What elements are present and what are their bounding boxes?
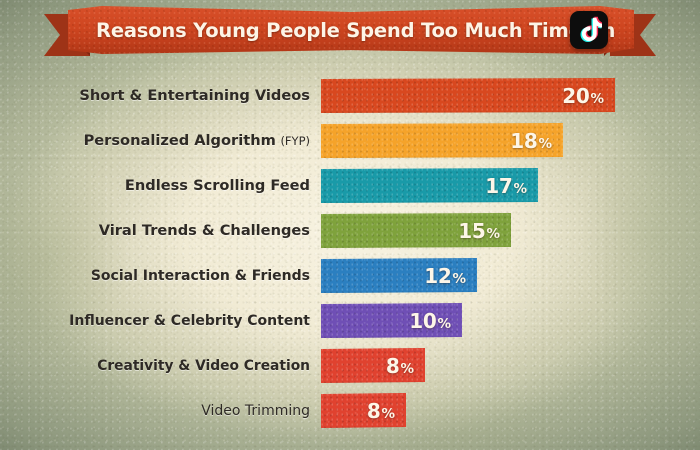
bar-label-strong: Personalized Algorithm (84, 132, 276, 149)
bar-value-number: 15 (458, 219, 485, 243)
bar-value-percent: % (400, 361, 414, 377)
tiktok-logo-icon (570, 11, 608, 49)
bar-segment: 12% (321, 258, 477, 293)
bar-label-rest: Scrolling Feed (188, 177, 310, 194)
bar-label: Creativity & Video Creation (0, 358, 321, 374)
bar-label-strong: Influencer (69, 313, 149, 329)
infographic-canvas: Reasons Young People Spend Too Much Time… (0, 0, 700, 450)
header-ribbon: Reasons Young People Spend Too Much Time… (0, 0, 700, 70)
bar-label-strong: Endless (125, 177, 188, 194)
bar-value-percent: % (452, 271, 466, 287)
bar-value: 8% (367, 399, 406, 423)
bar-value: 15% (458, 219, 511, 243)
bar-segment: 15% (321, 213, 511, 248)
table-row: Social Interaction & Friends 12% (0, 258, 700, 293)
bar-value-number: 12 (424, 264, 451, 288)
bar-label: Video Trimming (0, 403, 321, 419)
table-row: Viral Trends & Challenges 15% (0, 213, 700, 248)
bar-value-percent: % (513, 181, 527, 197)
bar-chart: Short & Entertaining Videos 20% Personal… (0, 70, 700, 435)
bar-value-number: 18 (510, 129, 537, 153)
table-row: Influencer & Celebrity Content 10% (0, 303, 700, 338)
table-row: Endless Scrolling Feed 17% (0, 168, 700, 203)
table-row: Video Trimming 8% (0, 393, 700, 428)
bar-value: 12% (424, 264, 477, 288)
bar-value-percent: % (538, 136, 552, 152)
table-row: Creativity & Video Creation 8% (0, 348, 700, 383)
bar-label-rest: & Challenges (197, 222, 310, 239)
bar-segment: 10% (321, 303, 462, 338)
bar-value-number: 8 (367, 399, 381, 423)
bar-segment: 8% (321, 348, 425, 383)
bar-value-number: 8 (386, 354, 400, 378)
bar-label-note: (FYP) (280, 134, 310, 148)
bar-label-strong: Creativity (97, 358, 173, 374)
bar-label: Short & Entertaining Videos (0, 87, 321, 104)
bar-label-strong: Viral Trends (99, 222, 197, 239)
page-title: Reasons Young People Spend Too Much Time… (96, 13, 566, 47)
bar-value-number: 20 (562, 84, 589, 108)
bar-label-rest: Video Trimming (201, 403, 310, 419)
table-row: Personalized Algorithm (FYP) 18% (0, 123, 700, 158)
bar-value: 17% (485, 174, 538, 198)
bar-label-rest: & Video Creation (173, 358, 310, 374)
bar-value: 8% (386, 354, 425, 378)
bar-label-rest: & Friends (230, 268, 310, 284)
table-row: Short & Entertaining Videos 20% (0, 78, 700, 113)
bar-segment: 18% (321, 123, 563, 158)
bar-segment: 20% (321, 78, 615, 113)
bar-segment: 17% (321, 168, 538, 203)
bar-label: Viral Trends & Challenges (0, 222, 321, 239)
bar-value: 20% (562, 84, 615, 108)
bar-label: Influencer & Celebrity Content (0, 313, 321, 329)
bar-value-percent: % (590, 91, 604, 107)
bar-value-number: 10 (409, 309, 436, 333)
bar-label: Endless Scrolling Feed (0, 177, 321, 194)
bar-label: Personalized Algorithm (FYP) (0, 132, 321, 149)
bar-label-strong: Social Interaction (91, 268, 230, 284)
bar-label-strong: Short & Entertaining Videos (79, 87, 310, 104)
bar-segment: 8% (321, 393, 406, 428)
bar-value-percent: % (437, 316, 451, 332)
bar-label: Social Interaction & Friends (0, 268, 321, 284)
bar-value-number: 17 (485, 174, 512, 198)
bar-value: 18% (510, 129, 563, 153)
bar-value-percent: % (381, 406, 395, 422)
bar-label-rest: & Celebrity Content (149, 313, 310, 329)
bar-value-percent: % (486, 226, 500, 242)
bar-value: 10% (409, 309, 462, 333)
